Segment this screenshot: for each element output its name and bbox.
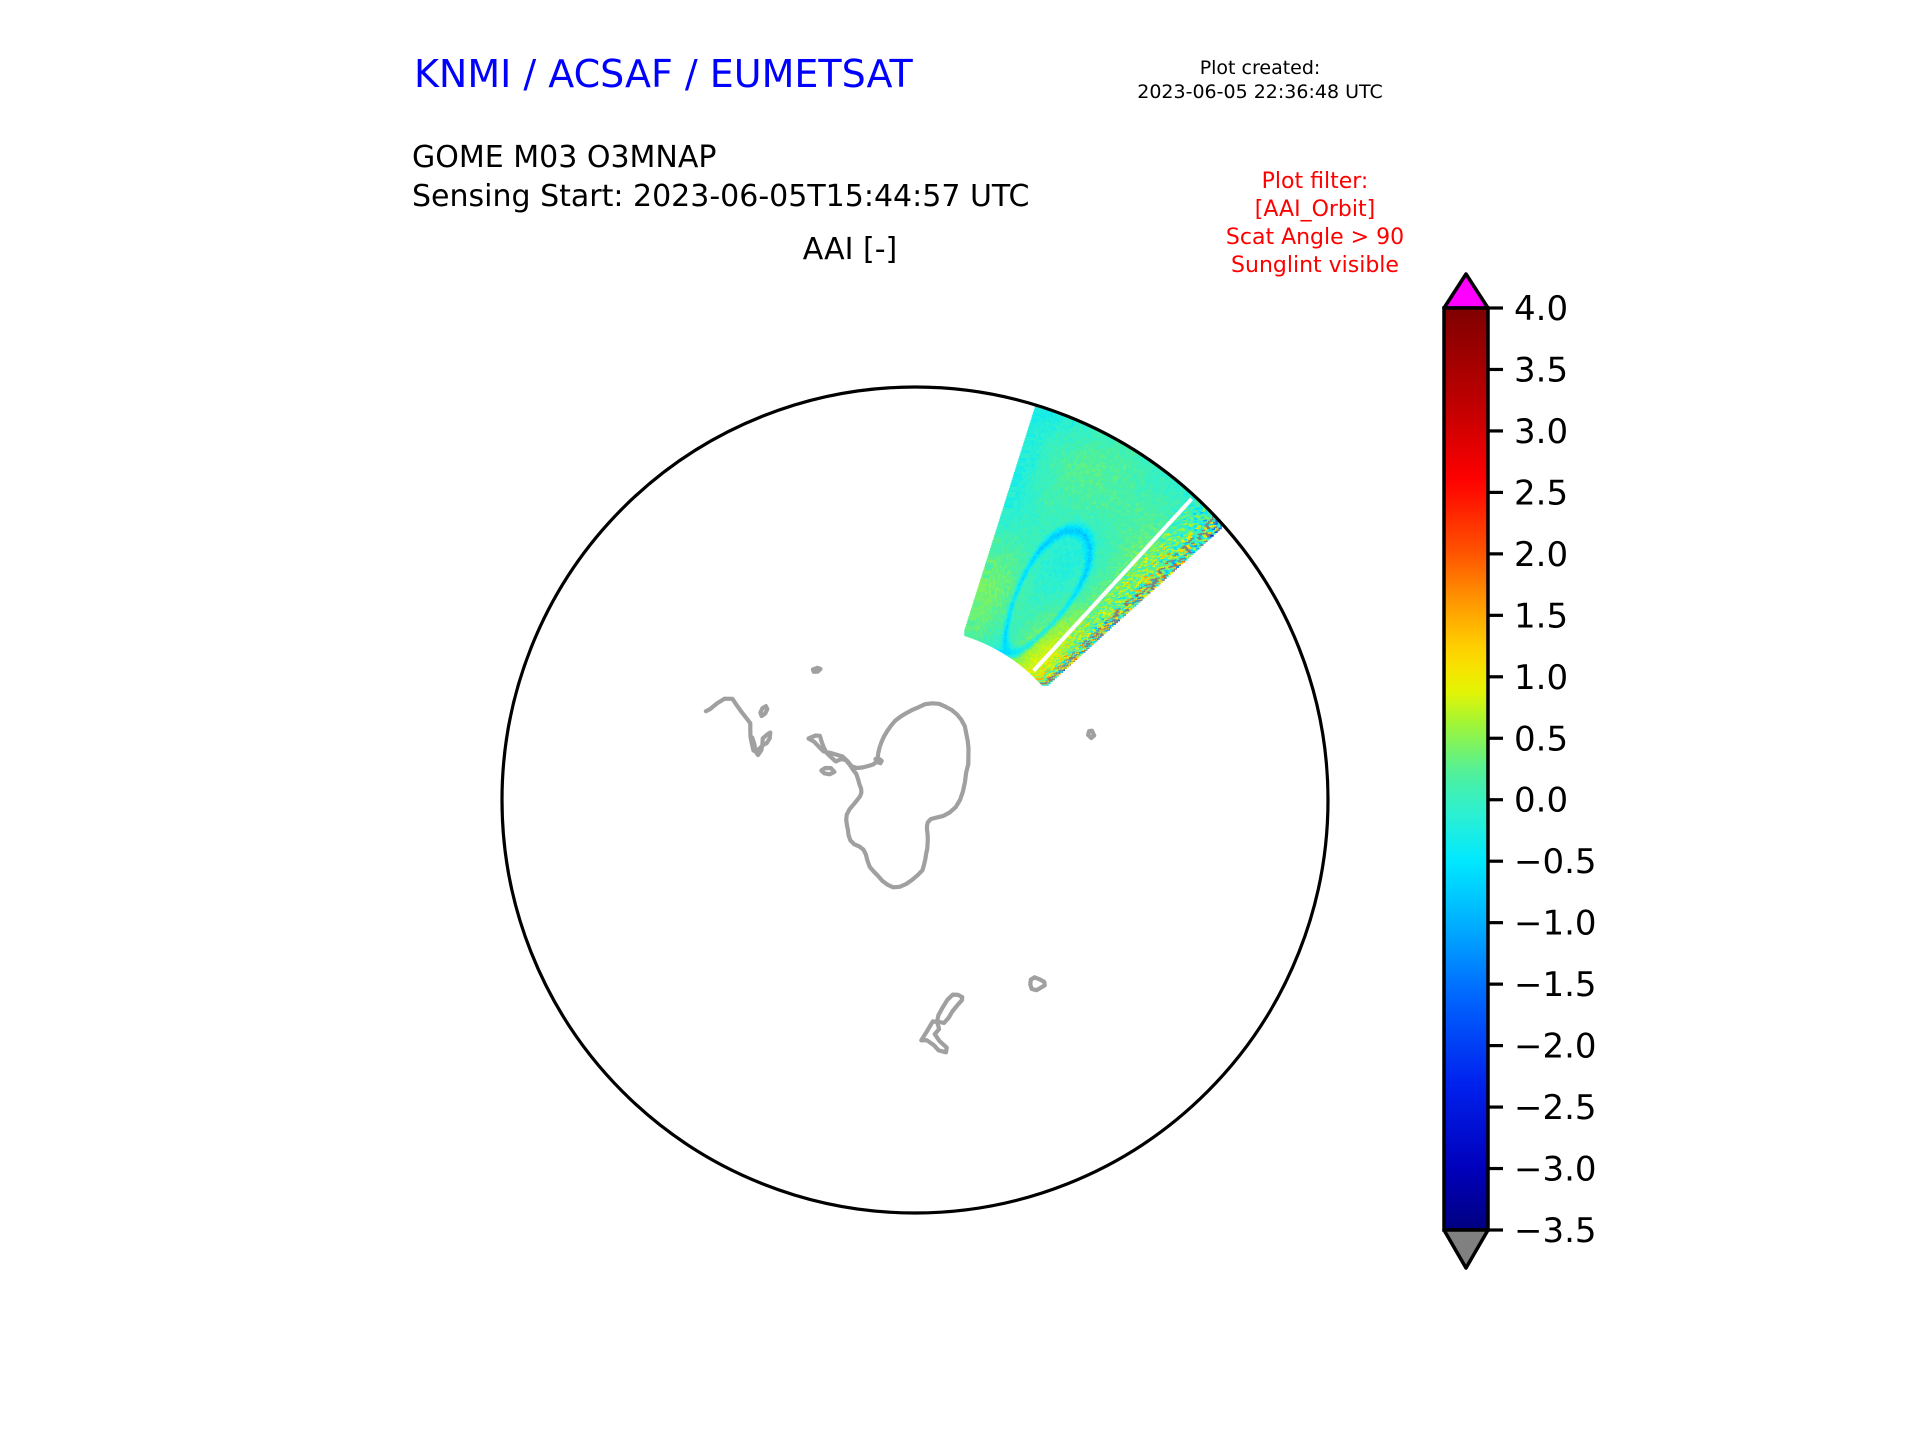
- sensing-start: Sensing Start: 2023-06-05T15:44:57 UTC: [412, 177, 1029, 216]
- plot-created-label: Plot created:: [1080, 56, 1440, 80]
- colorbar-tick-label: −2.0: [1514, 1027, 1597, 1067]
- colorbar-tick-label: 0.5: [1514, 719, 1568, 759]
- colorbar-tick-label: 2.5: [1514, 473, 1568, 513]
- colorbar-ticks: 4.03.53.02.52.01.51.00.50.0−0.5−1.0−1.5−…: [1488, 289, 1597, 1251]
- colorbar-tick-label: 2.0: [1514, 535, 1568, 575]
- product-info-block: GOME M03 O3MNAP Sensing Start: 2023-06-0…: [412, 138, 1029, 216]
- colorbar-tick-label: 1.5: [1514, 596, 1568, 636]
- plot-canvas: KNMI / ACSAF / EUMETSAT Plot created: 20…: [0, 0, 1920, 1440]
- colorbar-tick-label: −1.5: [1514, 965, 1597, 1005]
- swath-data-layer: [964, 407, 1222, 686]
- colorbar-tick-label: 4.0: [1514, 289, 1568, 329]
- polar-map: [380, 265, 1450, 1335]
- plot-created-time: 2023-06-05 22:36:48 UTC: [1080, 80, 1440, 104]
- colorbar-tick-label: −3.5: [1514, 1211, 1597, 1251]
- colorbar-tick-label: −2.5: [1514, 1088, 1597, 1128]
- plot-filter-scat-angle: Scat Angle > 90: [1140, 224, 1490, 252]
- plot-created-block: Plot created: 2023-06-05 22:36:48 UTC: [1080, 56, 1440, 105]
- colorbar-tick-label: 0.0: [1514, 781, 1568, 821]
- colorbar-tick-label: −0.5: [1514, 842, 1597, 882]
- product-name: GOME M03 O3MNAP: [412, 138, 1029, 177]
- coastline-kerguelen: [1088, 731, 1094, 738]
- coastline-antarctica: [809, 703, 969, 887]
- coastline-falkland-islands: [760, 706, 767, 716]
- coastline-ross-ice-feature: [876, 759, 882, 763]
- colorbar-tick-label: 3.5: [1514, 350, 1568, 390]
- coastline-new-zealand-north: [921, 1021, 946, 1052]
- colorbar-under-arrow: [1444, 1230, 1488, 1268]
- colorbar-over-arrow: [1444, 274, 1488, 308]
- colorbar-tick-label: −3.0: [1514, 1150, 1597, 1190]
- coastline-new-zealand-south: [937, 995, 962, 1023]
- plot-filter-variable: [AAI_Orbit]: [1140, 196, 1490, 224]
- colorbar-gradient-bar: [1444, 308, 1488, 1230]
- organisation-title: KNMI / ACSAF / EUMETSAT: [414, 52, 913, 96]
- coastline-layer: [706, 668, 1094, 1053]
- colorbar: 4.03.53.02.52.01.51.00.50.0−0.5−1.0−1.5−…: [1430, 270, 1730, 1330]
- coastline-south-georgia: [813, 668, 821, 672]
- coastline-south-america: [706, 699, 770, 755]
- coastline-tasmania: [1030, 977, 1045, 990]
- plot-filter-label: Plot filter:: [1140, 168, 1490, 196]
- page-title: AAI [-]: [600, 232, 1100, 267]
- plot-filter-block: Plot filter: [AAI_Orbit] Scat Angle > 90…: [1140, 168, 1490, 281]
- colorbar-tick-label: 3.0: [1514, 412, 1568, 452]
- colorbar-tick-label: −1.0: [1514, 904, 1597, 944]
- colorbar-tick-label: 1.0: [1514, 658, 1568, 698]
- coastline-alexander-island: [821, 768, 834, 774]
